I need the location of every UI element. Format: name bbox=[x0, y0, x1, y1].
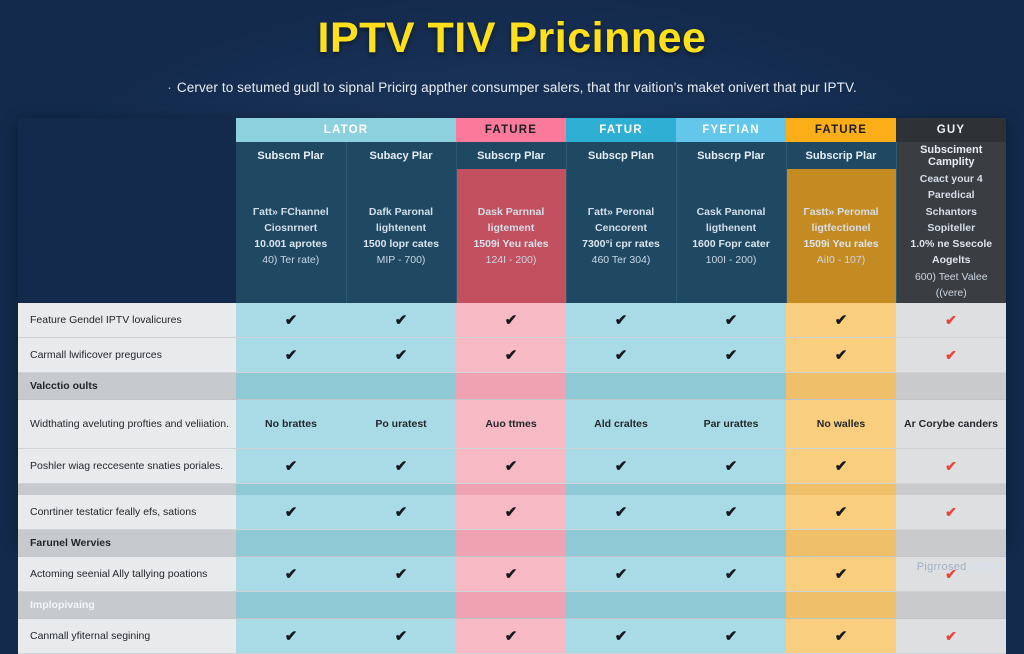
cell-r5-c0 bbox=[236, 484, 346, 496]
table-row: Poshler wiag reccesente snaties poriales… bbox=[18, 449, 1006, 484]
header-band-0: LATOR bbox=[236, 118, 456, 142]
check-icon: ✔ bbox=[285, 347, 298, 364]
cell-r2-c3 bbox=[566, 373, 676, 400]
cell-r7-c5 bbox=[786, 530, 896, 557]
plan-name-5: Subscrip Plar bbox=[786, 142, 896, 169]
cell-text: No walles bbox=[817, 418, 865, 430]
header-detail-row: Γatt» FChannelCiosnrnert10.001 aprotes40… bbox=[18, 169, 1006, 303]
plan-detail-1-l1: lightenent bbox=[353, 220, 450, 236]
check-icon: ✔ bbox=[505, 347, 518, 364]
check-icon: ✔ bbox=[835, 312, 848, 329]
cell-r3-c3: Ald craltes bbox=[566, 400, 676, 449]
cell-r1-c2: ✔ bbox=[456, 338, 566, 373]
plan-name-6: Subsciment Camplity bbox=[896, 142, 1006, 169]
plan-detail-3-title: Γatt» PeronalCencorent bbox=[573, 204, 670, 237]
row-label-9: Implopivaing bbox=[18, 592, 236, 619]
cell-r9-c3 bbox=[566, 592, 676, 619]
cell-r10-c2: ✔ bbox=[456, 619, 566, 654]
plan-detail-4-title: Cask Panonalligthenent bbox=[683, 204, 780, 237]
check-icon: ✔ bbox=[505, 504, 518, 521]
check-icon: ✔ bbox=[395, 628, 408, 645]
plan-detail-3-l2: 7300°i cpr rates bbox=[573, 236, 670, 252]
cell-r0-c2: ✔ bbox=[456, 303, 566, 338]
check-icon: ✔ bbox=[615, 347, 628, 364]
cell-text: No brattes bbox=[265, 418, 317, 430]
plan-detail-6-l1: Ceact your 4 Paredical bbox=[903, 171, 1001, 204]
cell-text: Par urattes bbox=[704, 418, 759, 430]
cell-r10-c3: ✔ bbox=[566, 619, 676, 654]
plan-detail-0-title: Γatt» FChannelCiosnrnert bbox=[242, 204, 340, 237]
plan-detail-5: Γastt» Peromalligtfectionel1509i Yeu ral… bbox=[786, 169, 896, 303]
section-row: Implopivaing bbox=[18, 592, 1006, 619]
cell-r0-c0: ✔ bbox=[236, 303, 346, 338]
cell-r9-c4 bbox=[676, 592, 786, 619]
cell-r2-c1 bbox=[346, 373, 456, 400]
plan-detail-2-l1: ligtement bbox=[463, 220, 560, 236]
check-icon: ✔ bbox=[285, 566, 298, 583]
cell-r5-c5 bbox=[786, 484, 896, 496]
cell-r9-c0 bbox=[236, 592, 346, 619]
plan-detail-0-l1: Ciosnrnert bbox=[242, 220, 340, 236]
spacer-row bbox=[18, 484, 1006, 496]
cell-r6-c6: ✔ bbox=[896, 495, 1006, 530]
cell-r0-c4: ✔ bbox=[676, 303, 786, 338]
plan-detail-6-l1: Schantors Sopiteller bbox=[903, 204, 1001, 237]
header-band-5: GUY bbox=[896, 118, 1006, 142]
cell-r1-c5: ✔ bbox=[786, 338, 896, 373]
check-icon: ✔ bbox=[725, 312, 738, 329]
cell-r9-c5 bbox=[786, 592, 896, 619]
plan-detail-4-l1: Cask Panonal bbox=[683, 204, 780, 220]
plan-detail-1-l1: Dafk Paronal bbox=[353, 204, 450, 220]
table-row: Widthating aveluting profties and veliia… bbox=[18, 400, 1006, 449]
check-icon: ✔ bbox=[505, 458, 518, 475]
plan-detail-1-l2: 1500 lopr cates bbox=[353, 236, 450, 252]
plan-detail-4: Cask Panonalligthenent1600 Fopr cater100… bbox=[676, 169, 786, 303]
header-band-spacer bbox=[18, 118, 236, 142]
plan-detail-6-l3: 600) Teet Valee ((vere) bbox=[903, 269, 1001, 302]
cell-r4-c0: ✔ bbox=[236, 449, 346, 484]
plan-detail-5-l1: Γastt» Peromal bbox=[793, 204, 890, 220]
check-icon: ✔ bbox=[285, 458, 298, 475]
cell-r2-c2 bbox=[456, 373, 566, 400]
cell-r0-c5: ✔ bbox=[786, 303, 896, 338]
cell-r4-c5: ✔ bbox=[786, 449, 896, 484]
watermark-text: Pigrrosed bbox=[917, 561, 970, 573]
cell-r7-c0 bbox=[236, 530, 346, 557]
check-icon: ✔ bbox=[615, 458, 628, 475]
cell-r4-c4: ✔ bbox=[676, 449, 786, 484]
header-band-1: FATURE bbox=[456, 118, 566, 142]
plan-name-0: Subscm Plar bbox=[236, 142, 346, 169]
plan-detail-2-title: Dask Parnnalligtement bbox=[463, 204, 560, 237]
cell-r10-c4: ✔ bbox=[676, 619, 786, 654]
check-icon: ✔ bbox=[505, 628, 518, 645]
cell-r7-c3 bbox=[566, 530, 676, 557]
check-icon: ✔ bbox=[835, 504, 848, 521]
cell-r5-c6 bbox=[896, 484, 1006, 496]
check-icon: ✔ bbox=[615, 504, 628, 521]
plan-detail-6-title: Ceact your 4 ParedicalSchantors Sopitell… bbox=[903, 171, 1001, 236]
header-band-2: FATUR bbox=[566, 118, 676, 142]
cell-r6-c1: ✔ bbox=[346, 495, 456, 530]
row-label-7: Farunel Wervies bbox=[18, 530, 236, 557]
check-icon: ✔ bbox=[285, 312, 298, 329]
plan-detail-5-l3: AiI0 - 107) bbox=[793, 252, 890, 268]
row-label-2: Valcctio oults bbox=[18, 373, 236, 400]
section-row: Farunel Wervies bbox=[18, 530, 1006, 557]
table-row: Actoming seenial Ally tallying poations✔… bbox=[18, 557, 1006, 592]
cell-text: Auo ttmes bbox=[485, 418, 536, 430]
cell-r6-c2: ✔ bbox=[456, 495, 566, 530]
plan-name-1: Subacy Plar bbox=[346, 142, 456, 169]
pricing-comparison-card: LATORFATUREFATURFYEΓIANFATUREGUY Subscm … bbox=[18, 118, 1006, 543]
cell-r6-c4: ✔ bbox=[676, 495, 786, 530]
cell-r0-c3: ✔ bbox=[566, 303, 676, 338]
cell-r10-c0: ✔ bbox=[236, 619, 346, 654]
plan-detail-2-l3: 124I - 200) bbox=[463, 252, 560, 268]
cell-r8-c5: ✔ bbox=[786, 557, 896, 592]
check-icon: ✔ bbox=[835, 458, 848, 475]
check-icon: ✔ bbox=[395, 458, 408, 475]
cell-r9-c2 bbox=[456, 592, 566, 619]
check-icon: ✔ bbox=[615, 628, 628, 645]
check-red-icon: ✔ bbox=[945, 628, 957, 644]
cell-r8-c1: ✔ bbox=[346, 557, 456, 592]
header-plan-row: Subscm PlarSubacy PlarSubscrp PlarSubscp… bbox=[18, 142, 1006, 169]
plan-detail-3-l1: Cencorent bbox=[573, 220, 670, 236]
check-icon: ✔ bbox=[395, 312, 408, 329]
cell-r3-c4: Par urattes bbox=[676, 400, 786, 449]
check-icon: ✔ bbox=[395, 347, 408, 364]
cell-r1-c0: ✔ bbox=[236, 338, 346, 373]
plan-detail-3-l3: 460 Ter 304) bbox=[573, 252, 670, 268]
cell-r2-c5 bbox=[786, 373, 896, 400]
cell-r9-c1 bbox=[346, 592, 456, 619]
header-detail-spacer bbox=[18, 169, 236, 303]
cell-r4-c3: ✔ bbox=[566, 449, 676, 484]
plan-detail-0-l3: 40) Ter rate) bbox=[242, 252, 340, 268]
check-icon: ✔ bbox=[615, 312, 628, 329]
plan-detail-0-l1: Γatt» FChannel bbox=[242, 204, 340, 220]
page-title: IPTV TIV Pricinnee bbox=[0, 14, 1024, 63]
row-label-1: Carmall lwificover pregurces bbox=[18, 338, 236, 373]
check-icon: ✔ bbox=[725, 347, 738, 364]
plan-name-4: Subscrp Plar bbox=[676, 142, 786, 169]
cell-r2-c6 bbox=[896, 373, 1006, 400]
plan-name-3: Subscp Plan bbox=[566, 142, 676, 169]
check-icon: ✔ bbox=[835, 628, 848, 645]
check-red-icon: ✔ bbox=[945, 504, 957, 520]
table-body: Feature Gendel IPTV lovalicures✔✔✔✔✔✔✔Ca… bbox=[18, 303, 1006, 654]
cell-r10-c5: ✔ bbox=[786, 619, 896, 654]
table-header: LATORFATUREFATURFYEΓIANFATUREGUY Subscm … bbox=[18, 118, 1006, 303]
cell-r5-c3 bbox=[566, 484, 676, 496]
cell-r8-c0: ✔ bbox=[236, 557, 346, 592]
check-red-icon: ✔ bbox=[945, 347, 957, 363]
section-row: Valcctio oults bbox=[18, 373, 1006, 400]
check-icon: ✔ bbox=[835, 347, 848, 364]
cell-r2-c4 bbox=[676, 373, 786, 400]
plan-detail-0-l2: 10.001 aprotes bbox=[242, 236, 340, 252]
row-label-6: Conrtiner testaticr feally efs, sations bbox=[18, 495, 236, 530]
cell-r3-c1: Po uratest bbox=[346, 400, 456, 449]
cell-r6-c3: ✔ bbox=[566, 495, 676, 530]
cell-r8-c4: ✔ bbox=[676, 557, 786, 592]
cell-r1-c1: ✔ bbox=[346, 338, 456, 373]
plan-detail-1-l3: MIP - 700) bbox=[353, 252, 450, 268]
cell-r5-c1 bbox=[346, 484, 456, 496]
check-red-icon: ✔ bbox=[945, 458, 957, 474]
check-icon: ✔ bbox=[835, 566, 848, 583]
plan-detail-0: Γatt» FChannelCiosnrnert10.001 aprotes40… bbox=[236, 169, 346, 303]
check-icon: ✔ bbox=[505, 312, 518, 329]
header-band-4: FATURE bbox=[786, 118, 896, 142]
cell-r8-c2: ✔ bbox=[456, 557, 566, 592]
page-subtitle: ·Cerver to setumed gudl to sipnal Pricir… bbox=[0, 80, 1024, 95]
watermark-bold: I2OT4 bbox=[970, 561, 1002, 573]
check-icon: ✔ bbox=[725, 458, 738, 475]
cell-r7-c4 bbox=[676, 530, 786, 557]
plan-detail-5-l2: 1509i Yeu rales bbox=[793, 236, 890, 252]
cell-r10-c1: ✔ bbox=[346, 619, 456, 654]
cell-r3-c2: Auo ttmes bbox=[456, 400, 566, 449]
cell-r1-c4: ✔ bbox=[676, 338, 786, 373]
plan-detail-1: Dafk Paronallightenent1500 lopr catesMIP… bbox=[346, 169, 456, 303]
cell-r3-c5: No walles bbox=[786, 400, 896, 449]
cell-text: Po uratest bbox=[375, 418, 426, 430]
row-label-10: Canmall yfiternal segining bbox=[18, 619, 236, 654]
plan-detail-1-title: Dafk Paronallightenent bbox=[353, 204, 450, 237]
table-row: Feature Gendel IPTV lovalicures✔✔✔✔✔✔✔ bbox=[18, 303, 1006, 338]
plan-detail-5-title: Γastt» Peromalligtfectionel bbox=[793, 204, 890, 237]
pricing-table: LATORFATUREFATURFYEΓIANFATUREGUY Subscm … bbox=[18, 118, 1006, 654]
cell-r6-c5: ✔ bbox=[786, 495, 896, 530]
row-label-4: Poshler wiag reccesente snaties poriales… bbox=[18, 449, 236, 484]
table-row: Canmall yfiternal segining✔✔✔✔✔✔✔ bbox=[18, 619, 1006, 654]
check-icon: ✔ bbox=[285, 504, 298, 521]
cell-r1-c3: ✔ bbox=[566, 338, 676, 373]
check-icon: ✔ bbox=[285, 628, 298, 645]
cell-r3-c6: Ar Corybe canders bbox=[896, 400, 1006, 449]
cell-r9-c6 bbox=[896, 592, 1006, 619]
row-label-3: Widthating aveluting profties and veliia… bbox=[18, 400, 236, 449]
plan-detail-4-l3: 100I - 200) bbox=[683, 252, 780, 268]
plan-detail-2-l2: 1509i Yeu rales bbox=[463, 236, 560, 252]
cell-r4-c2: ✔ bbox=[456, 449, 566, 484]
cell-r4-c6: ✔ bbox=[896, 449, 1006, 484]
cell-r4-c1: ✔ bbox=[346, 449, 456, 484]
cell-r5-c2 bbox=[456, 484, 566, 496]
cell-r7-c1 bbox=[346, 530, 456, 557]
check-icon: ✔ bbox=[725, 566, 738, 583]
subtitle-text: Cerver to setumed gudl to sipnal Pricirg… bbox=[177, 80, 857, 95]
cell-text: Ald craltes bbox=[594, 418, 648, 430]
cell-r3-c0: No brattes bbox=[236, 400, 346, 449]
plan-detail-2: Dask Parnnalligtement1509i Yeu rales124I… bbox=[456, 169, 566, 303]
row-label-0: Feature Gendel IPTV lovalicures bbox=[18, 303, 236, 338]
check-icon: ✔ bbox=[395, 566, 408, 583]
plan-detail-2-l1: Dask Parnnal bbox=[463, 204, 560, 220]
plan-detail-6-l2: 1.0% ne Ssecole Aogelts bbox=[903, 236, 1001, 269]
check-icon: ✔ bbox=[615, 566, 628, 583]
cell-r8-c3: ✔ bbox=[566, 557, 676, 592]
plan-detail-3-l1: Γatt» Peronal bbox=[573, 204, 670, 220]
cell-r5-c4 bbox=[676, 484, 786, 496]
watermark: Pigrrosed I2OT4 bbox=[917, 561, 1002, 573]
cell-r2-c0 bbox=[236, 373, 346, 400]
check-icon: ✔ bbox=[505, 566, 518, 583]
cell-r0-c1: ✔ bbox=[346, 303, 456, 338]
plan-detail-4-l1: ligthenent bbox=[683, 220, 780, 236]
plan-detail-3: Γatt» PeronalCencorent7300°i cpr rates46… bbox=[566, 169, 676, 303]
header-band-3: FYEΓIAN bbox=[676, 118, 786, 142]
table-row: Carmall lwificover pregurces✔✔✔✔✔✔✔ bbox=[18, 338, 1006, 373]
table-row: Conrtiner testaticr feally efs, sations✔… bbox=[18, 495, 1006, 530]
check-icon: ✔ bbox=[725, 628, 738, 645]
plan-name-2: Subscrp Plar bbox=[456, 142, 566, 169]
cell-r10-c6: ✔ bbox=[896, 619, 1006, 654]
cell-r7-c6 bbox=[896, 530, 1006, 557]
plan-detail-5-l1: ligtfectionel bbox=[793, 220, 890, 236]
check-icon: ✔ bbox=[725, 504, 738, 521]
row-label-5 bbox=[18, 484, 236, 496]
cell-r0-c6: ✔ bbox=[896, 303, 1006, 338]
header-plan-spacer bbox=[18, 142, 236, 169]
cell-r1-c6: ✔ bbox=[896, 338, 1006, 373]
cell-text: Ar Corybe canders bbox=[904, 418, 998, 430]
cell-r6-c0: ✔ bbox=[236, 495, 346, 530]
row-label-8: Actoming seenial Ally tallying poations bbox=[18, 557, 236, 592]
check-icon: ✔ bbox=[395, 504, 408, 521]
plan-detail-4-l2: 1600 Fopr cater bbox=[683, 236, 780, 252]
check-red-icon: ✔ bbox=[945, 312, 957, 328]
plan-detail-6: Ceact your 4 ParedicalSchantors Sopitell… bbox=[896, 169, 1006, 303]
subtitle-bullet-icon: · bbox=[167, 80, 172, 95]
header-band-row: LATORFATUREFATURFYEΓIANFATUREGUY bbox=[18, 118, 1006, 142]
cell-r7-c2 bbox=[456, 530, 566, 557]
